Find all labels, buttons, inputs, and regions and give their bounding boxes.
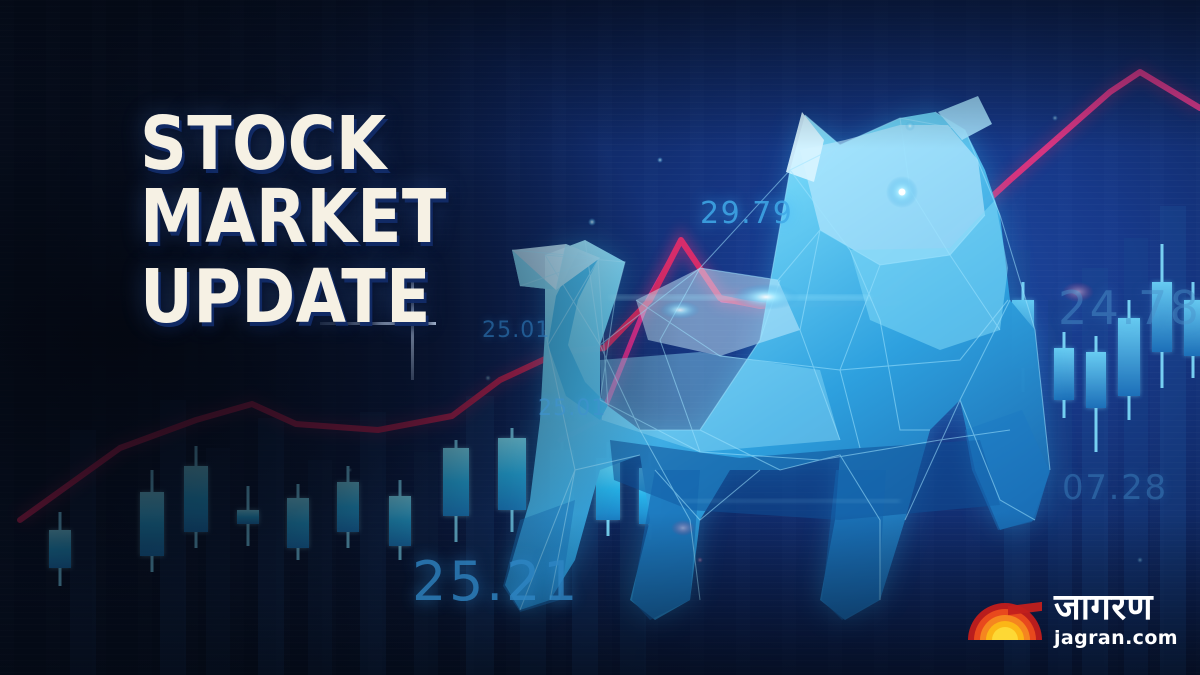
banner-root: 29.79 25.01 25.01 25.21 24.78 07.28 STOC… (0, 0, 1200, 675)
headline-block: STOCK MARKET UPDATE (140, 108, 760, 334)
brand-name-hindi: जागरण (1054, 590, 1153, 627)
brand-domain: jagran.com (1054, 628, 1178, 649)
headline-line-1: STOCK MARKET (140, 108, 686, 253)
brand-logo[interactable]: जागरण jagran.com (968, 590, 1178, 649)
brand-text: जागरण jagran.com (1054, 590, 1178, 649)
headline-line-2: UPDATE (140, 261, 686, 334)
sunrise-icon (968, 600, 1042, 640)
